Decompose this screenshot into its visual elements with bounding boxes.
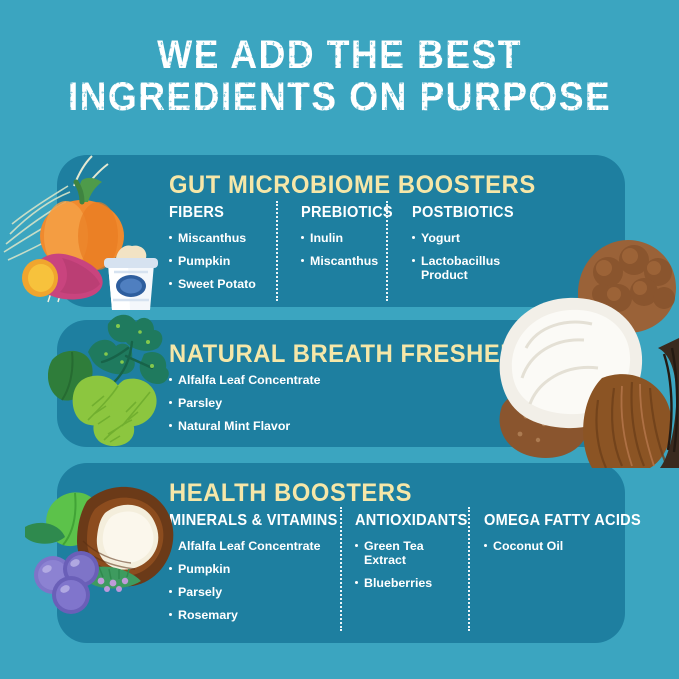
column-fibers-title: FIBERS	[169, 204, 278, 222]
list-item: Yogurt	[412, 231, 525, 245]
column-fibers-list: Miscanthus Pumpkin Sweet Potato	[169, 231, 285, 291]
column-antioxidants-list: Green Tea Extract Blueberries	[355, 539, 467, 590]
column-postbiotics-title: POSTBIOTICS	[412, 204, 518, 222]
page-title: WE ADD THE BEST INGREDIENTS ON PURPOSE	[0, 34, 679, 118]
column-omega-fatty-acids-title: OMEGA FATTY ACIDS	[484, 512, 609, 530]
list-item: Alfalfa Leaf Concentrate	[169, 539, 339, 553]
list-item: Green Tea Extract	[355, 539, 427, 567]
column-omega-fatty-acids-list: Coconut Oil	[484, 539, 617, 553]
column-prebiotics-list: Inulin Miscanthus	[301, 231, 395, 268]
list-item: Alfalfa Leaf Concentrate	[169, 373, 321, 387]
list-item: Miscanthus	[301, 254, 395, 268]
column-divider	[276, 201, 278, 301]
column-postbiotics: POSTBIOTICS Yogurt Lactobacillus Product	[395, 204, 525, 300]
panel-gut-microbiome-boosters: GUT MICROBIOME BOOSTERS FIBERS Miscanthu…	[57, 155, 625, 307]
list-item: Parsely	[169, 585, 339, 599]
column-antioxidants-title: ANTIOXIDANTS	[355, 512, 460, 530]
panel-2-list-wrap: Alfalfa Leaf Concentrate Parsley Natural…	[169, 373, 321, 442]
column-fibers: FIBERS Miscanthus Pumpkin Sweet Potato	[169, 204, 285, 300]
column-prebiotics-title: PREBIOTICS	[301, 204, 389, 222]
column-divider	[386, 201, 388, 301]
column-antioxidants: ANTIOXIDANTS Green Tea Extract Blueberri…	[339, 512, 467, 631]
panel-3-columns: MINERALS & VITAMINS Alfalfa Leaf Concent…	[169, 512, 617, 631]
panel-health-boosters: HEALTH BOOSTERS MINERALS & VITAMINS Alfa…	[57, 463, 625, 643]
panel-natural-breath-fresheners: NATURAL BREATH FRESHENERS Alfalfa Leaf C…	[57, 320, 625, 447]
column-divider	[468, 507, 470, 631]
list-item: Miscanthus	[169, 231, 285, 245]
panel-3-heading: HEALTH BOOSTERS	[169, 479, 412, 508]
column-postbiotics-list: Yogurt Lactobacillus Product	[412, 231, 525, 282]
column-omega-fatty-acids: OMEGA FATTY ACIDS Coconut Oil	[467, 512, 617, 631]
column-prebiotics: PREBIOTICS Inulin Miscanthus	[285, 204, 395, 300]
panel-2-heading: NATURAL BREATH FRESHENERS	[169, 340, 569, 369]
page-title-line-1: WE ADD THE BEST	[24, 34, 655, 76]
column-minerals-vitamins-title: MINERALS & VITAMINS	[169, 512, 329, 530]
list-item: Inulin	[301, 231, 395, 245]
list-item: Lactobacillus Product	[412, 254, 525, 282]
panel-1-columns: FIBERS Miscanthus Pumpkin Sweet Potato P…	[169, 204, 525, 300]
list-item: Pumpkin	[169, 562, 339, 576]
list-item: Sweet Potato	[169, 277, 285, 291]
column-minerals-vitamins-list: Alfalfa Leaf Concentrate Pumpkin Parsely…	[169, 539, 339, 622]
page-title-line-2: INGREDIENTS ON PURPOSE	[24, 76, 655, 118]
panel-1-heading: GUT MICROBIOME BOOSTERS	[169, 171, 536, 200]
list-item: Pumpkin	[169, 254, 285, 268]
breath-fresheners-list: Alfalfa Leaf Concentrate Parsley Natural…	[169, 373, 321, 433]
list-item: Coconut Oil	[484, 539, 617, 553]
column-divider	[340, 507, 342, 631]
list-item: Blueberries	[355, 576, 467, 590]
list-item: Parsley	[169, 396, 321, 410]
list-item: Natural Mint Flavor	[169, 419, 321, 433]
list-item: Rosemary	[169, 608, 339, 622]
column-minerals-vitamins: MINERALS & VITAMINS Alfalfa Leaf Concent…	[169, 512, 339, 631]
